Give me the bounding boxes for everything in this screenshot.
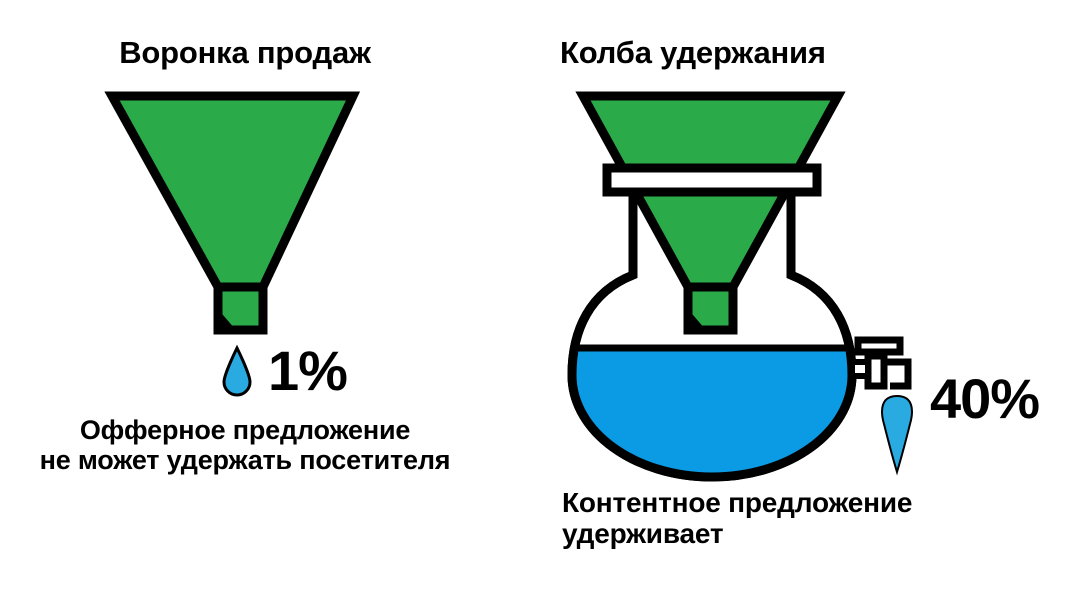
funnel-icon	[112, 96, 353, 330]
funnel-stem-shape-right	[688, 287, 733, 330]
tap-spout	[884, 362, 908, 386]
diagram-canvas: Воронка продаж Колба удержания 1% 40% Оф…	[0, 0, 1074, 590]
left-diagram-title: Воронка продаж	[0, 36, 490, 71]
right-percent-label: 40%	[930, 368, 1039, 431]
water-droplet-icon-right	[882, 396, 912, 472]
water-body	[560, 348, 865, 488]
left-caption: Офферное предложение не может удержать п…	[0, 415, 490, 475]
funnel-stem-shape	[218, 287, 263, 330]
flask-rim-collar	[607, 168, 817, 192]
right-diagram-title: Колба удержания	[560, 36, 980, 71]
flask-water-fill	[560, 348, 865, 488]
tap-inlet	[852, 362, 868, 376]
droplet-right-shape	[882, 396, 912, 472]
tap-valve-icon[interactable]	[852, 340, 908, 386]
left-percent-label: 1%	[268, 340, 347, 403]
tap-handle[interactable]	[858, 340, 900, 352]
water-droplet-icon	[224, 348, 250, 395]
right-caption: Контентное предложение удерживает	[562, 487, 1032, 550]
droplet-left-shape	[224, 348, 250, 395]
